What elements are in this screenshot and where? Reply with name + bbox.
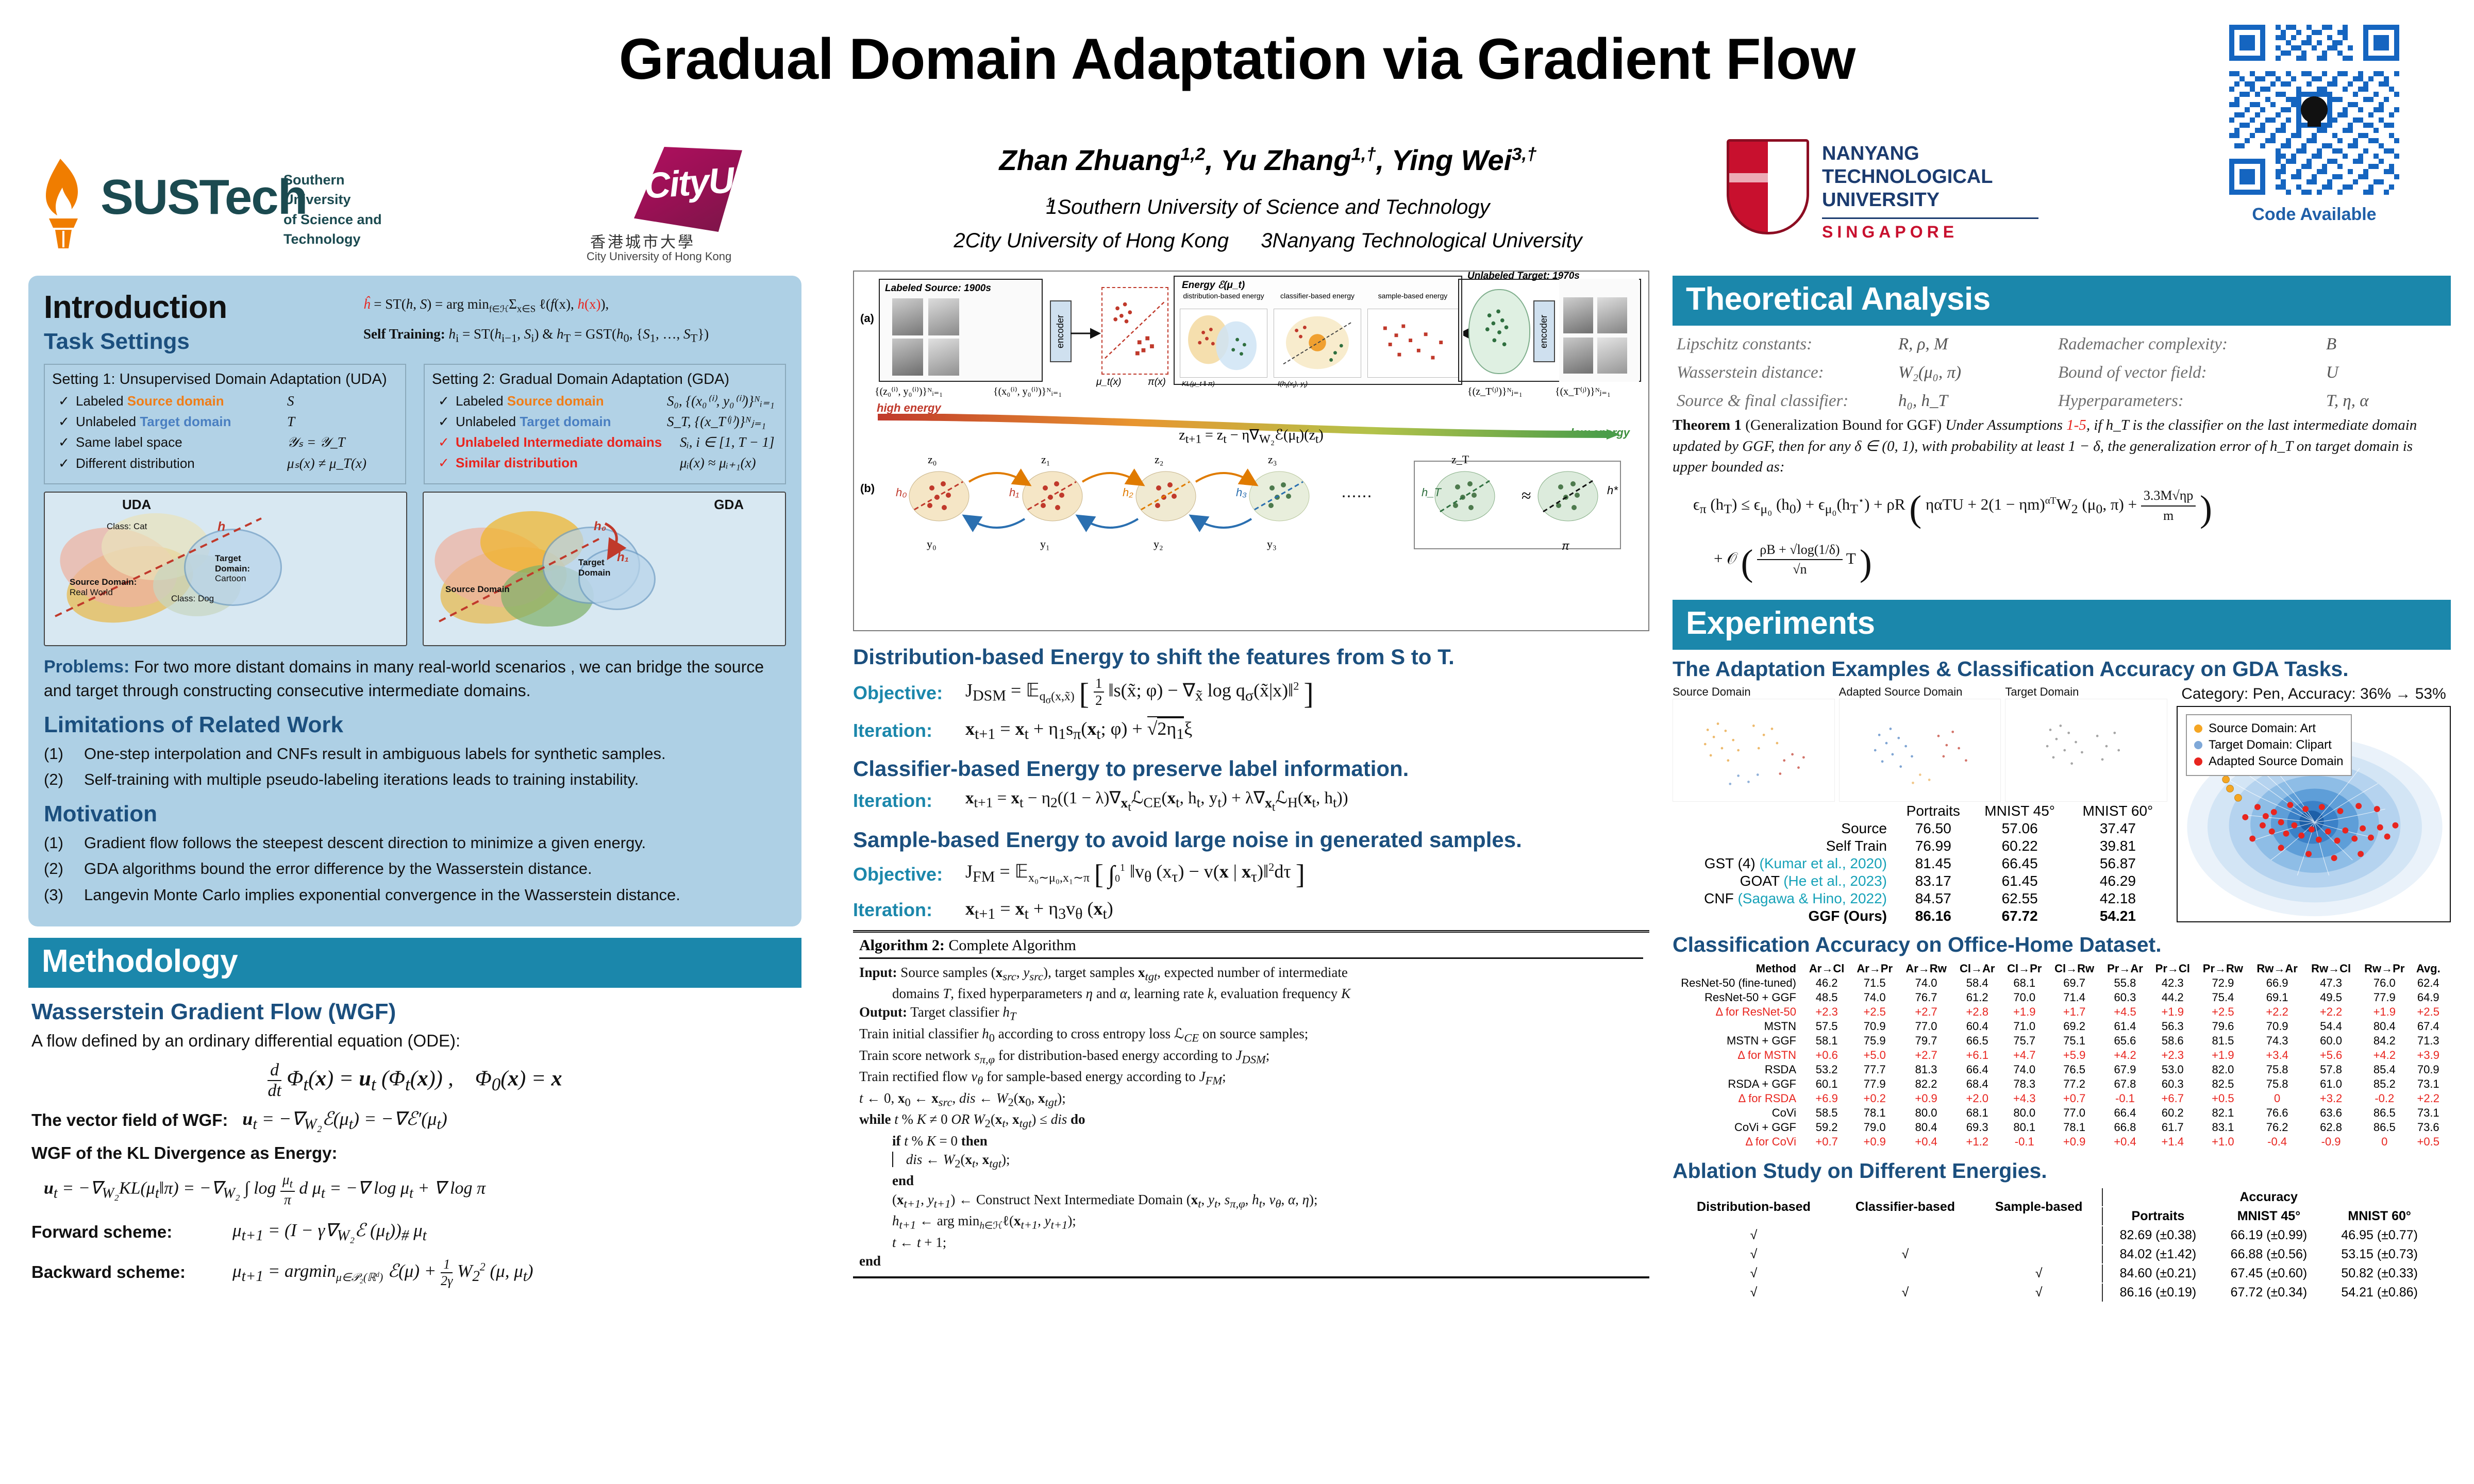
theory-value: h₀, h_T bbox=[1898, 392, 2058, 411]
table-row: ResNet-50 + GGF 48.574.076.761.270.071.4… bbox=[1674, 991, 2445, 1004]
svg-text:≈: ≈ bbox=[1522, 486, 1531, 505]
oh-row-name: MSTN bbox=[1674, 1020, 1802, 1033]
setting-1-row-symbol: S bbox=[287, 393, 398, 409]
unlabeled-target-label: Unlabeled Target: 1970s bbox=[1467, 271, 1580, 282]
legend-dot-adapted bbox=[2194, 757, 2202, 766]
oh-cell: 77.0 bbox=[2048, 1106, 2100, 1120]
oh-cell: 66.4 bbox=[1954, 1063, 2000, 1076]
oh-cell: 61.7 bbox=[2150, 1121, 2196, 1134]
setting-2-row: ✓ Unlabeled Target domain S_T, {(x_T⁽ʲ⁾)… bbox=[432, 414, 778, 430]
oh-cell: 60.3 bbox=[2101, 991, 2149, 1004]
oh-cell: 60.2 bbox=[2150, 1106, 2196, 1120]
legend-item: Target Domain: Clipart bbox=[2194, 738, 2344, 752]
theory-label: Source & final classifier: bbox=[1677, 392, 1898, 411]
cityu-chinese-name: 香港城市大學 bbox=[590, 229, 695, 252]
oh-col-13: Avg. bbox=[2412, 962, 2445, 975]
theory-label: Bound of vector field: bbox=[2058, 363, 2326, 382]
sustech-wordmark: SUSTech bbox=[101, 169, 307, 226]
table-row: Δ for ResNet-50 +2.3+2.5+2.7+2.8+1.9+1.7… bbox=[1674, 1005, 2445, 1019]
oh-cell: +1.9 bbox=[2150, 1005, 2196, 1019]
gda-tasks-heading: The Adaptation Examples & Classification… bbox=[1673, 657, 2451, 681]
oh-cell: -0.9 bbox=[2305, 1135, 2357, 1149]
oh-cell: +0.9 bbox=[1851, 1135, 1898, 1149]
energy-sub-2: classifier-based energy bbox=[1273, 292, 1362, 305]
setting-2-row-label: Similar distribution bbox=[456, 455, 680, 471]
oh-cell: 57.5 bbox=[1803, 1020, 1850, 1033]
oh-cell: +3.2 bbox=[2305, 1092, 2357, 1105]
setting-2-title: Setting 2: Gradual Domain Adaptation (GD… bbox=[432, 371, 778, 388]
ab-cell: 84.60 (±0.21) bbox=[2102, 1264, 2213, 1283]
setting-1-row: ✓ Different distribution μₛ(x) ≠ μ_T(x) bbox=[52, 456, 398, 471]
motivation-number: (3) bbox=[44, 883, 84, 907]
oh-cell: 62.4 bbox=[2412, 976, 2445, 990]
oh-col-0: Method bbox=[1674, 962, 1802, 975]
oh-cell: 78.3 bbox=[2001, 1077, 2047, 1091]
gda-cell: 84.57 bbox=[1896, 890, 1970, 907]
oh-col-10: Rw→Ar bbox=[2250, 962, 2304, 975]
kl-heading: WGF of the KL Divergence as Energy: bbox=[31, 1141, 798, 1166]
motivation-heading: Motivation bbox=[44, 801, 786, 827]
theorem-equation-2: + 𝒪 ( ρB + √log(1/δ)√n T ) bbox=[1673, 537, 2451, 589]
h2-label: h₂ bbox=[1123, 486, 1133, 499]
table-row: Source 76.50 57.06 37.47 bbox=[1674, 820, 2166, 837]
dist-objective-row: Objective: JDSM = 𝔼qσ(x,x̃) [ 12 ‖s(x̃; … bbox=[853, 676, 1649, 711]
motivation-number: (1) bbox=[44, 831, 84, 855]
oh-cell: +6.9 bbox=[1803, 1092, 1850, 1105]
affiliation-2-3: 2City University of Hong Kong 3Nanyang T… bbox=[850, 229, 1685, 252]
ab-check-smp: √ bbox=[1977, 1264, 2101, 1283]
ab-cell: 84.02 (±1.42) bbox=[2102, 1245, 2213, 1263]
oh-cell: 61.4 bbox=[2101, 1020, 2149, 1033]
oh-cell: 68.1 bbox=[1954, 1106, 2000, 1120]
experiments-heading: Experiments bbox=[1673, 600, 2451, 650]
oh-cell: 70.9 bbox=[2250, 1020, 2304, 1033]
oh-cell: 59.2 bbox=[1803, 1121, 1850, 1134]
algorithm-title-text: Complete Algorithm bbox=[948, 937, 1076, 954]
oh-cell: 64.9 bbox=[2412, 991, 2445, 1004]
ab-col-clf: Classifier-based bbox=[1835, 1188, 1976, 1225]
oh-cell: 61.2 bbox=[1954, 991, 2000, 1004]
setting-2-row-symbol: S₀, {(x₀⁽ⁱ⁾, y₀⁽ⁱ⁾)}ᴺᵢ₌₁ bbox=[667, 393, 778, 409]
sustech-subtitle: Southern University of Science and Techn… bbox=[283, 170, 389, 249]
gda-cell: 46.29 bbox=[2069, 873, 2166, 889]
oh-cell: 76.6 bbox=[2250, 1106, 2304, 1120]
ab-cell: 53.15 (±0.73) bbox=[2325, 1245, 2434, 1263]
problems-label: Problems: bbox=[44, 657, 129, 677]
oh-cell: +4.3 bbox=[2001, 1092, 2047, 1105]
oh-cell: +2.7 bbox=[1899, 1049, 1953, 1062]
page-title: Gradual Domain Adaptation via Gradient F… bbox=[0, 26, 2474, 92]
uda-class-dog: Class: Dog bbox=[171, 594, 214, 604]
dist-iteration-label: Iteration: bbox=[853, 720, 951, 741]
oh-cell: +0.5 bbox=[2412, 1135, 2445, 1149]
algorithm-line: Output: Target classifier hT bbox=[859, 1003, 1643, 1024]
ab-check-clf: √ bbox=[1835, 1284, 1976, 1302]
motivation-number: (2) bbox=[44, 857, 84, 881]
ab-cell: 67.72 (±0.34) bbox=[2214, 1284, 2324, 1302]
gda-cell: 39.81 bbox=[2069, 838, 2166, 854]
gda-cell: 56.87 bbox=[2069, 855, 2166, 872]
ab-check-clf bbox=[1835, 1264, 1976, 1283]
oh-cell: 82.1 bbox=[2197, 1106, 2249, 1120]
oh-cell: +4.7 bbox=[2001, 1049, 2047, 1062]
motivation-text: GDA algorithms bound the error differenc… bbox=[84, 857, 592, 881]
gda-row-cite: (Sagawa & Hino, 2022) bbox=[1737, 890, 1887, 906]
ab-check-dist: √ bbox=[1674, 1245, 1834, 1263]
setting-1-row-symbol: 𝒴ₛ = 𝒴_T bbox=[287, 434, 398, 451]
algorithm-line: t ← t + 1; bbox=[859, 1233, 1643, 1252]
pi-x-label: π(x) bbox=[1148, 377, 1166, 388]
setting-2-row-symbol: S_T, {(x_T⁽ʲ⁾)}ᴺⱼ₌₁ bbox=[667, 414, 778, 430]
legend-dot-source bbox=[2194, 724, 2202, 733]
oh-cell: +1.4 bbox=[2150, 1135, 2196, 1149]
encoder-right: encoder bbox=[1533, 300, 1555, 362]
oh-cell: 75.7 bbox=[2001, 1034, 2047, 1048]
oh-cell: +0.7 bbox=[1803, 1135, 1850, 1149]
oh-cell: 70.9 bbox=[1851, 1020, 1898, 1033]
oh-cell: +2.5 bbox=[2412, 1005, 2445, 1019]
oh-cell: 63.6 bbox=[2305, 1106, 2357, 1120]
zT-label: z_T bbox=[1451, 453, 1469, 466]
clf-iteration-equation: xt+1 = xt − η2((1 − λ)∇xtℒCE(xt, ht, yt)… bbox=[965, 787, 1348, 814]
problems-block: Problems: For two more distant domains i… bbox=[44, 654, 786, 703]
legend-item: Adapted Source Domain bbox=[2194, 754, 2344, 769]
backward-equation: μt+1 = argminμ∈𝒫₂(ℝd) ℰ(μ) + 12γ W22 (μ,… bbox=[232, 1257, 533, 1289]
table-row: Δ for RSDA +6.9+0.2+0.9+2.0+4.3+0.7-0.1+… bbox=[1674, 1092, 2445, 1105]
vector-field-label: The vector field of WGF: bbox=[31, 1108, 228, 1133]
right-column: Theoretical Analysis Lipschitz constants… bbox=[1673, 276, 2451, 1303]
oh-cell: -0.1 bbox=[2001, 1135, 2047, 1149]
ab-cell: 54.21 (±0.86) bbox=[2325, 1284, 2434, 1302]
ntu-divider bbox=[1822, 217, 2038, 219]
ab-cell: 66.88 (±0.56) bbox=[2214, 1245, 2324, 1263]
setting-1-row: ✓ Same label space 𝒴ₛ = 𝒴_T bbox=[52, 434, 398, 451]
ab-cell: 67.45 (±0.60) bbox=[2214, 1264, 2324, 1283]
oh-cell: 82.2 bbox=[1899, 1077, 1953, 1091]
setting-2-row: ✓ Unlabeled Intermediate domains Sᵢ, i ∈… bbox=[432, 434, 778, 450]
energy-sub-1: distribution-based energy bbox=[1179, 292, 1268, 305]
sample-energy-heading: Sample-based Energy to avoid large noise… bbox=[853, 828, 1649, 852]
setting-1-row-label: Labeled Source domain bbox=[76, 393, 287, 409]
oh-cell: 76.7 bbox=[1899, 991, 1953, 1004]
oh-row-name: MSTN + GGF bbox=[1674, 1034, 1802, 1048]
sample-iteration-row: Iteration: xt+1 = xt + η3vθ (xt) bbox=[853, 898, 1649, 923]
ab-col-dist: Distribution-based bbox=[1674, 1188, 1834, 1225]
motivation-list: (1)Gradient flow follows the steepest de… bbox=[44, 831, 786, 907]
oh-cell: 80.0 bbox=[1899, 1106, 1953, 1120]
gda-row-name: CNF (Sagawa & Hino, 2022) bbox=[1674, 890, 1895, 907]
source-scatter bbox=[1101, 287, 1168, 375]
legend-label-source: Source Domain: Art bbox=[2209, 721, 2316, 736]
task-settings-heading: Task Settings bbox=[44, 329, 363, 355]
table-row: RSDA 53.277.781.366.474.076.567.953.082.… bbox=[1674, 1063, 2445, 1076]
oh-cell: +5.6 bbox=[2305, 1049, 2357, 1062]
oh-cell: 70.0 bbox=[2001, 991, 2047, 1004]
gda-row-name: GGF (Ours) bbox=[1674, 908, 1895, 924]
table-row: √ √ 84.60 (±0.21) 67.45 (±0.60) 50.82 (±… bbox=[1674, 1264, 2434, 1283]
gda-cell: 57.06 bbox=[1971, 820, 2068, 837]
scatter-label-adapted: Adapted Source Domain bbox=[1839, 685, 2001, 699]
oh-cell: +2.7 bbox=[1899, 1005, 1953, 1019]
algorithm-line: end bbox=[859, 1252, 1643, 1270]
table-row: CoVi 58.578.180.068.180.077.066.460.282.… bbox=[1674, 1106, 2445, 1120]
theorem-body-1: Under Assumptions bbox=[1945, 417, 2066, 433]
limitations-list: (1)One-step interpolation and CNFs resul… bbox=[44, 742, 786, 792]
oh-cell: +2.3 bbox=[1803, 1005, 1850, 1019]
setting-2-row-symbol: μᵢ(x) ≈ μᵢ₊₁(x) bbox=[680, 455, 778, 471]
gda-cell: 60.22 bbox=[1971, 838, 2068, 854]
oh-cell: +2.2 bbox=[2250, 1005, 2304, 1019]
affiliation-3-text: 3Nanyang Technological University bbox=[1261, 229, 1582, 252]
scatter-panel-adapted: Adapted Source Domain bbox=[1839, 685, 2001, 802]
gda-row-name: Source bbox=[1674, 820, 1895, 837]
sustech-sub-l2: of Science and bbox=[283, 210, 389, 229]
theory-value: T, η, α bbox=[2326, 392, 2419, 411]
oh-cell: 86.5 bbox=[2358, 1106, 2411, 1120]
oh-cell: 58.1 bbox=[1803, 1034, 1850, 1048]
oh-cell: 57.8 bbox=[2305, 1063, 2357, 1076]
oh-cell: +0.9 bbox=[2048, 1135, 2100, 1149]
target-set2-label: {(x_T⁽ʲ⁾)}ᴺⱼ₌₁ bbox=[1555, 385, 1611, 398]
setting-1-title: Setting 1: Unsupervised Domain Adaptatio… bbox=[52, 371, 398, 388]
author-1: Zhan Zhuang1,2, Yu Zhang1,†, Ying Wei3,† bbox=[999, 144, 1537, 176]
gda-cell: 83.17 bbox=[1896, 873, 1970, 889]
domain-diagrams: UDA h Class: Cat Class: Dog Source Domai… bbox=[44, 492, 786, 646]
affiliation-1-text: 1Southern University of Science and Tech… bbox=[1046, 196, 1490, 218]
oh-cell: 58.5 bbox=[1803, 1106, 1850, 1120]
y2-label: y₂ bbox=[1154, 537, 1163, 551]
oh-cell: 58.4 bbox=[1954, 976, 2000, 990]
check-icon: ✓ bbox=[52, 414, 76, 430]
oh-cell: +6.7 bbox=[2150, 1092, 2196, 1105]
setting-1-row-label: Unlabeled Target domain bbox=[76, 414, 287, 430]
encoder-left: encoder bbox=[1050, 300, 1072, 362]
oh-cell: 44.2 bbox=[2150, 991, 2196, 1004]
oh-cell: +5.9 bbox=[2048, 1049, 2100, 1062]
oh-cell: +6.1 bbox=[1954, 1049, 2000, 1062]
oh-cell: 71.3 bbox=[2412, 1034, 2445, 1048]
qr-code-icon[interactable] bbox=[2229, 25, 2399, 195]
motivation-text: Gradient flow follows the steepest desce… bbox=[84, 831, 646, 855]
oh-cell: 73.1 bbox=[2412, 1106, 2445, 1120]
ab-check-clf: √ bbox=[1835, 1245, 1976, 1263]
oh-cell: +1.0 bbox=[2197, 1135, 2249, 1149]
oh-cell: 0 bbox=[2250, 1092, 2304, 1105]
cityu-logo: CityU 香港城市大學 City University of Hong Kon… bbox=[562, 147, 737, 263]
encoder-right-label: encoder bbox=[1539, 314, 1550, 348]
oh-cell: 85.2 bbox=[2358, 1077, 2411, 1091]
oh-cell: 53.0 bbox=[2150, 1063, 2196, 1076]
table-row: √ 82.69 (±0.38) 66.19 (±0.99) 46.95 (±0.… bbox=[1674, 1226, 2434, 1244]
sample-objective-row: Objective: JFM = 𝔼x₀∼μ₀,x₁∼π [ ∫01 ‖vθ (… bbox=[853, 858, 1649, 890]
oh-cell: 55.8 bbox=[2101, 976, 2149, 990]
kl-equation: ut = −∇W₂KL(μt‖π) = −∇W₂ ∫ log μtπ d μt … bbox=[44, 1172, 798, 1207]
oh-cell: +2.2 bbox=[2305, 1005, 2357, 1019]
legend-label-target: Target Domain: Clipart bbox=[2209, 738, 2332, 752]
table-row: RSDA + GGF 60.177.982.268.478.377.267.86… bbox=[1674, 1077, 2445, 1091]
oh-cell: 67.4 bbox=[2412, 1020, 2445, 1033]
category-accuracy-caption: Category: Pen, Accuracy: 36% → 53% bbox=[2177, 685, 2451, 703]
table-row: √ √ √ 86.16 (±0.19) 67.72 (±0.34) 54.21 … bbox=[1674, 1284, 2434, 1302]
setting-2-box: Setting 2: Gradual Domain Adaptation (GD… bbox=[424, 364, 786, 484]
oh-col-1: Ar→Cl bbox=[1803, 962, 1850, 975]
ablation-heading: Ablation Study on Different Energies. bbox=[1673, 1159, 2451, 1183]
h3-label: h₃ bbox=[1236, 486, 1247, 499]
oh-cell: +2.0 bbox=[1954, 1092, 2000, 1105]
h-star-label: h* bbox=[1607, 484, 1618, 497]
oh-col-7: Pr→Ar bbox=[2101, 962, 2149, 975]
oh-cell: 73.1 bbox=[2412, 1077, 2445, 1091]
gda-cell: 67.72 bbox=[1971, 908, 2068, 924]
list-item: (2)Self-training with multiple pseudo-la… bbox=[44, 768, 786, 792]
setting-1-row: ✓ Unlabeled Target domain T bbox=[52, 414, 398, 430]
oh-cell: +0.4 bbox=[2101, 1135, 2149, 1149]
qr-code-block[interactable]: Code Available bbox=[2216, 25, 2412, 231]
source-set-label: {(z₀⁽ⁱ⁾, y₀⁽ⁱ⁾)}ᴺᵢ₌₁ bbox=[875, 385, 943, 398]
ntu-crest-icon bbox=[1727, 139, 1809, 234]
oh-cell: +4.2 bbox=[2358, 1049, 2411, 1062]
oh-cell: 60.1 bbox=[1803, 1077, 1850, 1091]
hT-label: h_T bbox=[1422, 486, 1441, 499]
forward-equation: μt+1 = (I − γ∇W₂ℰ (μt))# μt bbox=[232, 1220, 427, 1244]
uda-source-label: Source Domain:Real World bbox=[70, 577, 137, 597]
high-energy-label: high energy bbox=[877, 401, 941, 415]
left-column: Introduction Task Settings ĥ = ST(h, S) … bbox=[28, 276, 801, 1289]
oh-cell: +3.9 bbox=[2412, 1049, 2445, 1062]
oh-cell: 79.6 bbox=[2197, 1020, 2249, 1033]
ab-check-clf bbox=[1835, 1226, 1976, 1244]
sustech-logo: SUSTech Southern University of Science a… bbox=[28, 155, 389, 252]
oh-cell: -0.4 bbox=[2250, 1135, 2304, 1149]
kl-small-label: KL(μ_t ‖ π) bbox=[1182, 380, 1215, 387]
uda-diagram: UDA h Class: Cat Class: Dog Source Domai… bbox=[44, 492, 407, 646]
h1-label: h₁ bbox=[1009, 486, 1019, 499]
ab-cell: 66.19 (±0.99) bbox=[2214, 1226, 2324, 1244]
gda-row-cite: (Kumar et al., 2020) bbox=[1760, 855, 1887, 871]
check-icon: ✓ bbox=[432, 414, 456, 430]
table-row: MSTN 57.570.977.060.471.069.261.456.379.… bbox=[1674, 1020, 2445, 1033]
theorem-equation-1: ϵπ (hT) ≤ ϵμ₀ (h0) + ϵμ₀(hT⋆) + ρR ( ηαT… bbox=[1673, 483, 2451, 535]
gda-diagram: GDA h₀ h₁ Source Domain TargetDom bbox=[423, 492, 786, 646]
limitation-number: (2) bbox=[44, 768, 84, 792]
author-list: Zhan Zhuang1,2, Yu Zhang1,†, Ying Wei3,† bbox=[866, 143, 1670, 177]
oh-cell: 76.0 bbox=[2358, 976, 2411, 990]
oh-cell: 79.7 bbox=[1899, 1034, 1953, 1048]
oh-cell: 81.5 bbox=[2197, 1034, 2249, 1048]
oh-cell: 78.1 bbox=[1851, 1106, 1898, 1120]
oh-cell: +1.9 bbox=[2001, 1005, 2047, 1019]
oh-cell: +2.8 bbox=[1954, 1005, 2000, 1019]
table-row: Self Train 76.99 60.22 39.81 bbox=[1674, 838, 2166, 854]
oh-cell: 74.3 bbox=[2250, 1034, 2304, 1048]
oh-cell: 69.1 bbox=[2250, 991, 2304, 1004]
oh-row-name: Δ for MSTN bbox=[1674, 1049, 1802, 1062]
oh-col-2: Ar→Pr bbox=[1851, 962, 1898, 975]
algorithm-line: Train initial classifier h0 according to… bbox=[859, 1024, 1643, 1046]
oh-cell: 68.4 bbox=[1954, 1077, 2000, 1091]
oh-cell: +0.2 bbox=[1851, 1092, 1898, 1105]
table-row: CNF (Sagawa & Hino, 2022) 84.57 62.55 42… bbox=[1674, 890, 2166, 907]
torch-icon bbox=[28, 155, 95, 250]
oh-cell: 80.1 bbox=[2001, 1121, 2047, 1134]
h0-label: h₀ bbox=[896, 486, 907, 499]
oh-cell: 60.4 bbox=[1954, 1020, 2000, 1033]
setting-2-row: ✓ Similar distribution μᵢ(x) ≈ μᵢ₊₁(x) bbox=[432, 455, 778, 471]
algorithm-line: ht+1 ← arg minh∈ℋℓ(xt+1, yt+1); bbox=[859, 1211, 1643, 1233]
oh-cell: +2.5 bbox=[2197, 1005, 2249, 1019]
oh-cell: +2.5 bbox=[1851, 1005, 1898, 1019]
ab-cell: 46.95 (±0.77) bbox=[2325, 1226, 2434, 1244]
gda-h1-label: h₁ bbox=[617, 550, 629, 565]
oh-cell: 71.0 bbox=[2001, 1020, 2047, 1033]
oh-cell: +5.0 bbox=[1851, 1049, 1898, 1062]
z0-label: z₀ bbox=[928, 453, 937, 466]
algorithm-title-bold: Algorithm 2: bbox=[859, 937, 945, 954]
oh-cell: 60.3 bbox=[2150, 1077, 2196, 1091]
density-scatter-plot: Source Domain: Art Target Domain: Clipar… bbox=[2177, 706, 2451, 922]
setting-2-row-symbol: Sᵢ, i ∈ [1, T − 1] bbox=[680, 434, 778, 450]
oh-cell: 75.4 bbox=[2197, 991, 2249, 1004]
hat-h-formula: ĥ = ST(h, S) = arg minf∈ℋΣx∈S ℓ(f(x), h(… bbox=[363, 296, 786, 315]
cityu-english-name: City University of Hong Kong bbox=[587, 250, 731, 263]
limitations-heading: Limitations of Related Work bbox=[44, 712, 786, 738]
algorithm-line: Train score network sπ,φ for distributio… bbox=[859, 1046, 1643, 1068]
ab-col-accuracy: Accuracy bbox=[2102, 1188, 2434, 1206]
oh-row-name: ResNet-50 (fine-tuned) bbox=[1674, 976, 1802, 990]
oh-cell: 68.1 bbox=[2001, 976, 2047, 990]
oh-cell: 82.5 bbox=[2197, 1077, 2249, 1091]
gda-row-name: Self Train bbox=[1674, 838, 1895, 854]
experiments-top-row: Source Domain bbox=[1673, 685, 2451, 925]
oh-cell: 66.8 bbox=[2101, 1121, 2149, 1134]
oh-cell: 66.4 bbox=[2101, 1106, 2149, 1120]
list-item: (1)One-step interpolation and CNFs resul… bbox=[44, 742, 786, 766]
oh-cell: 82.0 bbox=[2197, 1063, 2249, 1076]
ode-text: A flow defined by an ordinary differenti… bbox=[31, 1029, 798, 1053]
legend-dot-target bbox=[2194, 741, 2202, 749]
oh-cell: 71.5 bbox=[1851, 976, 1898, 990]
theory-label: Rademacher complexity: bbox=[2058, 335, 2326, 354]
theory-heading: Theoretical Analysis bbox=[1673, 276, 2451, 326]
oh-row-name: RSDA bbox=[1674, 1063, 1802, 1076]
middle-column: (a) (b) Labeled Source: 1900s encoder bbox=[853, 271, 1649, 1278]
check-icon: ✓ bbox=[432, 393, 456, 409]
methodology-heading: Methodology bbox=[28, 938, 801, 988]
uda-target-label: TargetDomain:Cartoon bbox=[215, 553, 250, 584]
theory-value: R, ρ, M bbox=[1898, 335, 2058, 354]
oh-cell: 76.5 bbox=[2048, 1063, 2100, 1076]
oh-cell: 47.3 bbox=[2305, 976, 2357, 990]
clf-iteration-row: Iteration: xt+1 = xt − η2((1 − λ)∇xtℒCE(… bbox=[853, 787, 1649, 814]
oh-cell: 76.2 bbox=[2250, 1121, 2304, 1134]
setting-2-row-label: Unlabeled Intermediate domains bbox=[456, 434, 680, 450]
oh-cell: 80.0 bbox=[2001, 1106, 2047, 1120]
oh-cell: 61.0 bbox=[2305, 1077, 2357, 1091]
oh-cell: +2.3 bbox=[2150, 1049, 2196, 1062]
oh-col-6: Cl→Rw bbox=[2048, 962, 2100, 975]
oh-cell: +1.9 bbox=[2197, 1049, 2249, 1062]
oh-cell: 69.7 bbox=[2048, 976, 2100, 990]
table-row: ResNet-50 (fine-tuned) 46.271.574.058.46… bbox=[1674, 976, 2445, 990]
sustech-sub-l1: Southern University bbox=[283, 170, 389, 210]
unlabeled-target-panel bbox=[1559, 279, 1639, 382]
setting-1-row-symbol: μₛ(x) ≠ μ_T(x) bbox=[287, 456, 398, 471]
scatter-panel-source: Source Domain bbox=[1673, 685, 1835, 802]
oh-cell: 56.3 bbox=[2150, 1020, 2196, 1033]
y3-label: y₃ bbox=[1267, 537, 1277, 551]
table-row: Δ for MSTN +0.6+5.0+2.7+6.1+4.7+5.9+4.2+… bbox=[1674, 1049, 2445, 1062]
oh-cell: +0.6 bbox=[1803, 1049, 1850, 1062]
